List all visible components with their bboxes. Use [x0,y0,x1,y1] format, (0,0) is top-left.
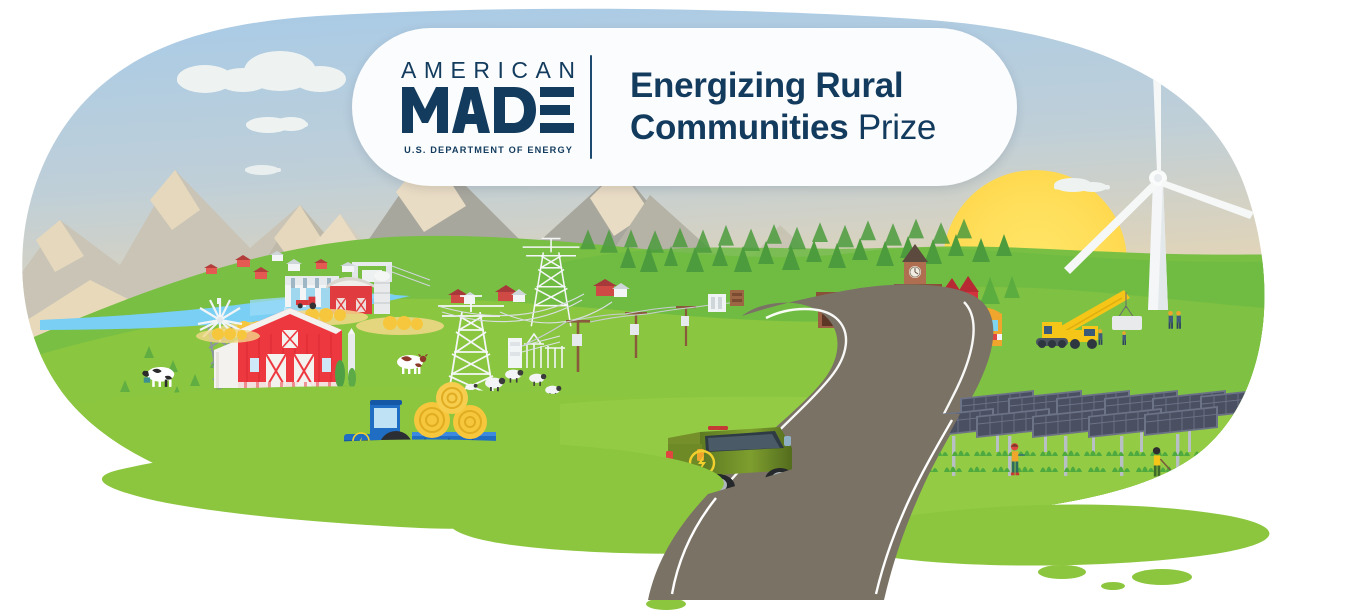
american-made-logo: AMERICAN U [352,59,584,155]
prize-title-line-2-bold: Communities [630,108,848,147]
prize-title-line-2: Communities Prize [630,107,936,149]
prize-title-line-1: Energizing Rural [630,65,936,107]
prize-title-line-2-light: Prize [858,108,936,147]
prize-title-badge: AMERICAN U [352,28,1017,186]
battery-storage-unit [1240,428,1274,464]
logo-made-wordmark [402,85,574,139]
prize-title: Energizing Rural Communities Prize [592,65,936,148]
illustration-banner: AMERICAN U [0,0,1350,612]
logo-american-text: AMERICAN [394,59,583,82]
prize-title-line-1-text: Energizing Rural [630,66,903,105]
logo-doe-text: U.S. DEPARTMENT OF ENERGY [403,145,573,155]
